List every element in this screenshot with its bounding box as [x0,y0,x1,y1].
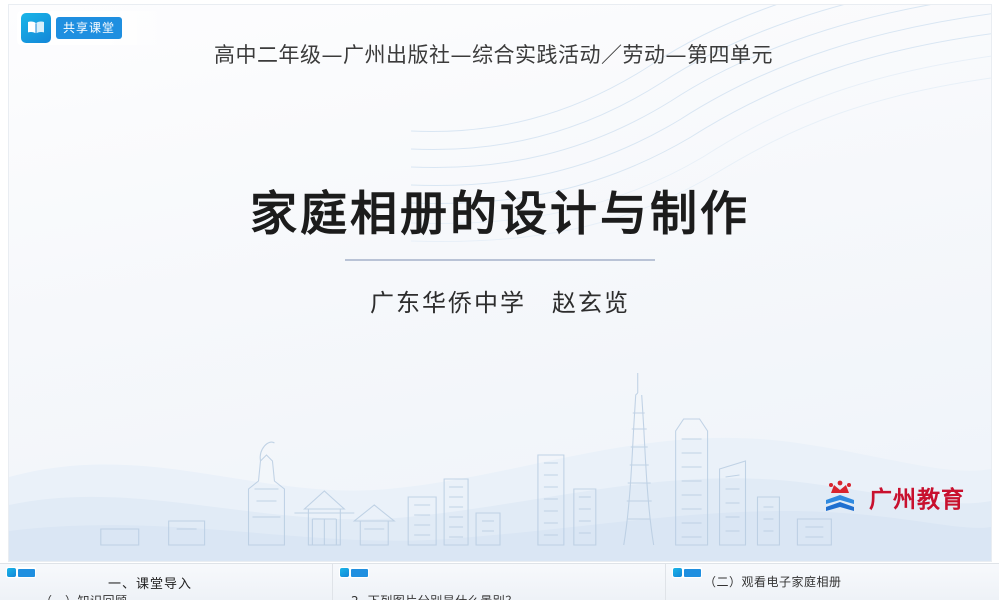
crown-book-icon [820,477,860,517]
slide-thumbnail[interactable]: （二）观看电子家庭相册 [666,563,999,600]
slide-header-text: 高中二年级—广州出版社—综合实践活动／劳动—第四单元 [214,39,954,72]
slide-subtitle: 广东华侨中学 赵玄览 [9,283,991,318]
guangzhou-education-label: 广州教育 [869,480,965,514]
thumb-logo-icon [6,567,36,578]
title-divider [345,259,655,261]
shared-classroom-logo: 共享课堂 [17,11,169,45]
logo-label: 共享课堂 [56,17,122,39]
open-book-icon [21,13,51,43]
page-title: 家庭相册的设计与制作 [9,175,991,244]
thumbnail-subtitle: （二）观看电子家庭相册 [704,573,842,590]
guangzhou-education-logo: 广州教育 [820,477,965,517]
thumb-logo-icon [672,567,702,578]
thumbnail-subtitle: （一）知识回顾 [40,592,128,600]
slide-thumbnail[interactable]: 一、课堂导入 （一）知识回顾 [0,563,333,600]
slide-thumbnail[interactable]: 2. 下列图片分别是什么景别？ [333,563,666,600]
slide-viewer: 共享课堂 高中二年级—广州出版社—综合实践活动／劳动—第四单元 家庭相册的设计与… [0,0,1000,600]
city-skyline-illustration [9,369,991,549]
slide-canvas: 共享课堂 高中二年级—广州出版社—综合实践活动／劳动—第四单元 家庭相册的设计与… [8,4,992,562]
thumbnail-title: 一、课堂导入 [108,573,192,592]
thumb-logo-icon [339,567,369,578]
slide-filmstrip[interactable]: 一、课堂导入 （一）知识回顾 2. 下列图片分别是什么景别？ （二）观看电子家庭… [0,563,1000,600]
thumbnail-subtitle: 2. 下列图片分别是什么景别？ [351,592,518,600]
